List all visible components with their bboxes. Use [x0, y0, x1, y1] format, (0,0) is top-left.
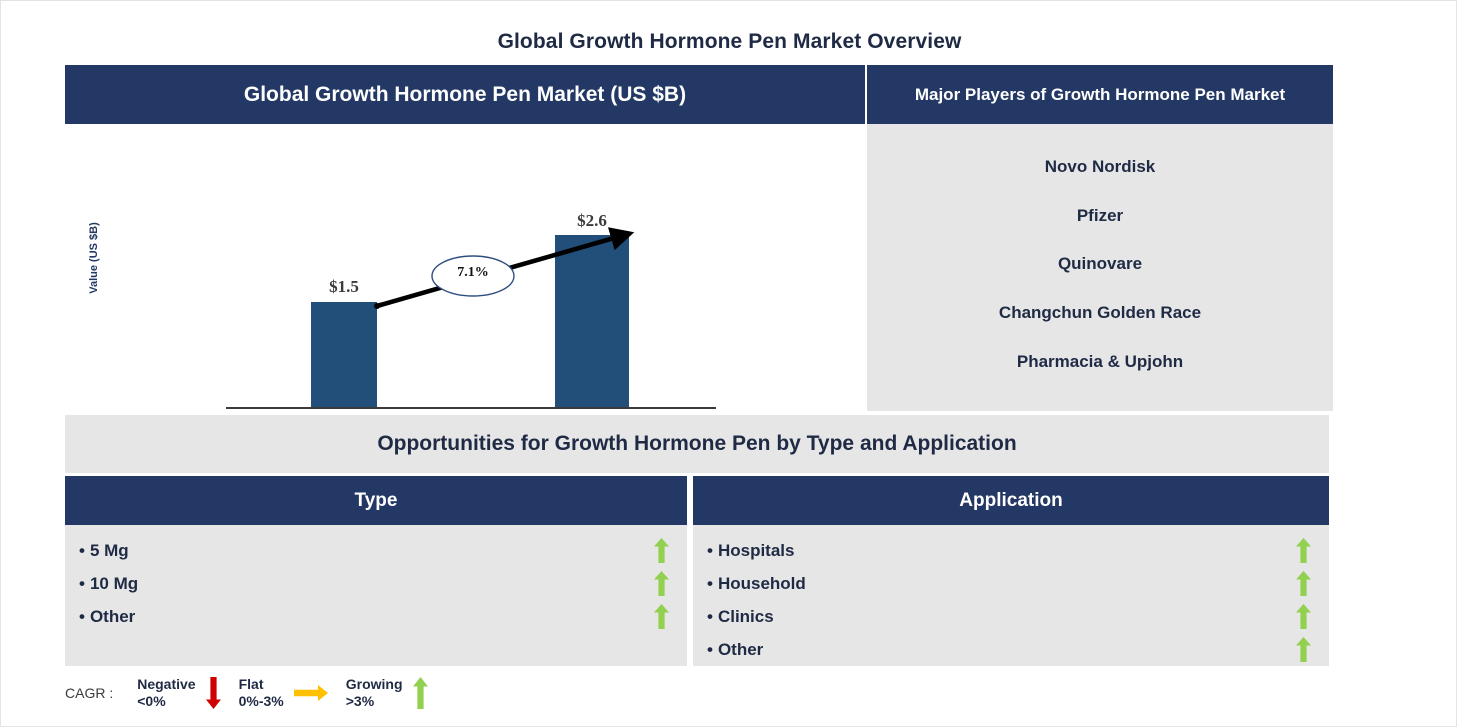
list-item: •Other	[65, 600, 687, 633]
application-item-label: •Hospitals	[707, 541, 794, 561]
legend-entry-growing: Growing >3%	[346, 676, 440, 709]
application-column: Application •Hospitals •Household •Clini…	[693, 476, 1329, 666]
opportunities-band-title: Opportunities for Growth Hormone Pen by …	[65, 415, 1329, 473]
arrow-up-icon	[654, 604, 669, 629]
legend-entry-negative: Negative <0%	[137, 676, 232, 709]
bullet-icon: •	[79, 574, 85, 593]
type-column: Type •5 Mg •10 Mg •Other	[65, 476, 687, 666]
type-item-label: •5 Mg	[79, 541, 129, 561]
legend-negative-name: Negative	[137, 676, 195, 692]
application-column-header: Application	[693, 476, 1329, 525]
list-item: •5 Mg	[65, 534, 687, 567]
legend-entry-flat: Flat 0%-3%	[239, 676, 340, 709]
legend-growing-text: Growing >3%	[346, 676, 403, 709]
y-axis-label: Value (US $B)	[88, 198, 100, 318]
list-item: •10 Mg	[65, 567, 687, 600]
major-players-panel: Major Players of Growth Hormone Pen Mark…	[867, 65, 1333, 411]
arrow-up-icon	[1296, 604, 1311, 629]
bullet-icon: •	[707, 541, 713, 560]
list-item: •Household	[693, 567, 1329, 600]
bar-2026	[311, 302, 377, 407]
legend-negative-range: <0%	[137, 693, 195, 710]
arrow-up-icon	[1296, 571, 1311, 596]
type-item-label: •Other	[79, 607, 135, 627]
arrow-up-icon	[1296, 538, 1311, 563]
legend-flat-range: 0%-3%	[239, 693, 284, 710]
type-item-text: 10 Mg	[90, 574, 138, 593]
bullet-icon: •	[707, 607, 713, 626]
arrow-up-icon	[654, 571, 669, 596]
bullet-icon: •	[707, 574, 713, 593]
bar-value-label-2035: $2.6	[555, 211, 629, 231]
application-item-text: Clinics	[718, 607, 774, 626]
type-column-header: Type	[65, 476, 687, 525]
cagr-legend: CAGR : Negative <0% Flat 0%-3% Growing >…	[65, 669, 446, 717]
type-column-body: •5 Mg •10 Mg •Other	[65, 525, 687, 666]
players-panel-header: Major Players of Growth Hormone Pen Mark…	[867, 65, 1333, 124]
chart-panel-header: Global Growth Hormone Pen Market (US $B)	[65, 65, 865, 124]
arrow-up-icon	[654, 538, 669, 563]
chart-plot-area: Value (US $B) $1.5 $2.6 2026 2035 7.1% S…	[65, 124, 865, 411]
application-item-label: •Clinics	[707, 607, 774, 627]
arrow-down-icon	[206, 677, 221, 709]
market-chart-panel: Global Growth Hormone Pen Market (US $B)…	[65, 65, 865, 411]
list-item: •Clinics	[693, 600, 1329, 633]
x-axis-line	[226, 407, 716, 409]
legend-flat-text: Flat 0%-3%	[239, 676, 284, 709]
list-item: Pharmacia & Upjohn	[1017, 352, 1183, 372]
bar-2035	[555, 235, 629, 407]
arrow-right-icon	[294, 685, 328, 701]
legend-flat-name: Flat	[239, 676, 264, 692]
list-item: Novo Nordisk	[1045, 157, 1156, 177]
players-list: Novo Nordisk Pfizer Quinovare Changchun …	[867, 124, 1333, 411]
bullet-icon: •	[707, 640, 713, 659]
list-item: Quinovare	[1058, 254, 1142, 274]
type-item-label: •10 Mg	[79, 574, 138, 594]
arrow-up-icon	[413, 677, 428, 709]
bar-value-label-2026: $1.5	[311, 277, 377, 297]
application-column-body: •Hospitals •Household •Clinics •Other	[693, 525, 1329, 666]
list-item: •Other	[693, 633, 1329, 666]
application-item-text: Other	[718, 640, 763, 659]
cagr-annotation-label: 7.1%	[433, 265, 513, 281]
list-item: •Hospitals	[693, 534, 1329, 567]
page-title: Global Growth Hormone Pen Market Overvie…	[1, 30, 1457, 54]
bullet-icon: •	[79, 541, 85, 560]
bullet-icon: •	[79, 607, 85, 626]
application-item-text: Hospitals	[718, 541, 795, 560]
application-item-text: Household	[718, 574, 806, 593]
cagr-legend-title: CAGR :	[65, 685, 113, 701]
list-item: Pfizer	[1077, 206, 1123, 226]
type-item-text: 5 Mg	[90, 541, 129, 560]
application-item-label: •Household	[707, 574, 806, 594]
infographic-root: Global Growth Hormone Pen Market Overvie…	[0, 0, 1457, 727]
type-item-text: Other	[90, 607, 135, 626]
legend-growing-range: >3%	[346, 693, 403, 710]
legend-growing-name: Growing	[346, 676, 403, 692]
legend-negative-text: Negative <0%	[137, 676, 195, 709]
application-item-label: •Other	[707, 640, 763, 660]
list-item: Changchun Golden Race	[999, 303, 1201, 323]
arrow-up-icon	[1296, 637, 1311, 662]
